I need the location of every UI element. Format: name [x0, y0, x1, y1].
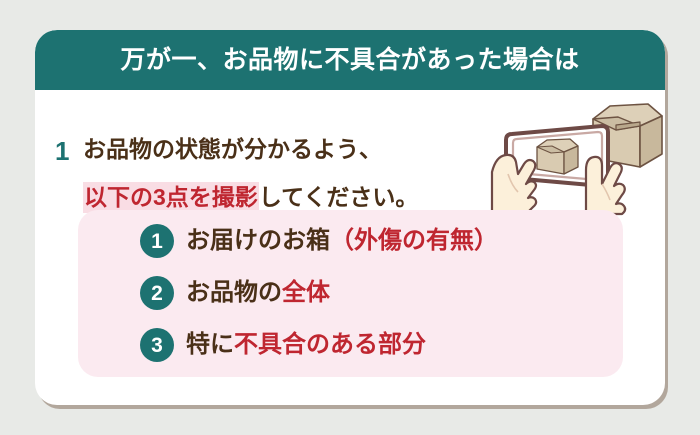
step-number: 1: [55, 138, 69, 164]
checklist-text-1: お届けのお箱（外傷の有無）: [186, 229, 498, 253]
checklist-item-3: 3 特に不具合のある部分: [140, 325, 426, 365]
step-instruction-line-2-rest: してください。: [259, 184, 419, 210]
page-title: 万が一、お品物に不具合があった場合は: [120, 48, 579, 73]
step-instruction-line-2: 以下の3点を撮影してください。: [83, 186, 418, 209]
checklist-item-1: 1 お届けのお箱（外傷の有無）: [140, 221, 498, 261]
checklist-text-3: 特に不具合のある部分: [186, 333, 426, 357]
checklist-badge-2: 2: [140, 276, 174, 310]
left-hand-illustration: [492, 155, 536, 214]
checklist-text-1-normal: お届けのお箱: [186, 227, 330, 254]
hands-holding-tablet-photographing-cardboard-box-icon: [490, 92, 665, 217]
checklist-item-2: 2 お品物の全体: [140, 273, 330, 313]
cardboard-box-small-illustration: [537, 139, 578, 174]
highlighted-phrase: 以下の3点を撮影: [83, 182, 259, 213]
card-header: 万が一、お品物に不具合があった場合は: [35, 30, 665, 90]
checklist-text-2-normal: お品物の: [186, 279, 282, 306]
checklist-text-3-red: 不具合のある部分: [234, 331, 426, 358]
checklist-text-2-red: 全体: [282, 279, 330, 306]
info-card: 万が一、お品物に不具合があった場合は 1 お品物の状態が分かるよう、 以下の3点…: [35, 30, 665, 405]
checklist-badge-3: 3: [140, 328, 174, 362]
step-instruction-line-1: お品物の状態が分かるよう、: [83, 138, 382, 161]
checklist-panel: 1 お届けのお箱（外傷の有無） 2 お品物の全体 3 特に不具合のある部分: [78, 210, 623, 377]
checklist-badge-1: 1: [140, 224, 174, 258]
checklist-text-3-normal: 特に: [186, 331, 234, 358]
checklist-text-2: お品物の全体: [186, 281, 330, 305]
checklist-text-1-red: （外傷の有無）: [330, 227, 498, 254]
